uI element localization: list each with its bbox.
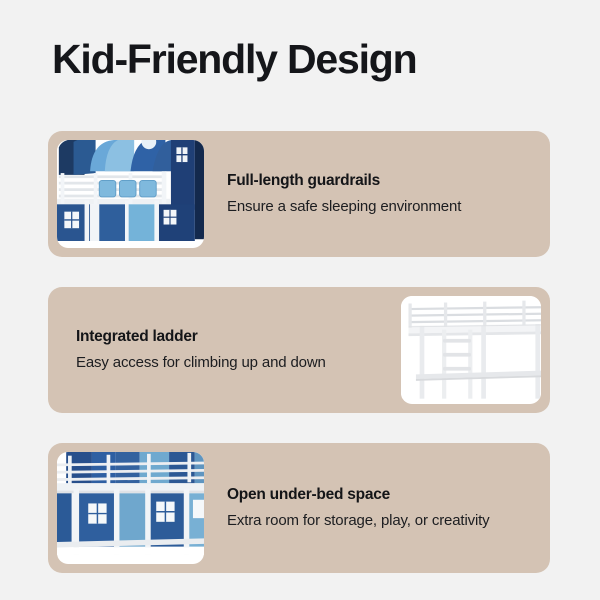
bunk-bed-canopy-illustration	[57, 140, 204, 241]
page-title: Kid-Friendly Design	[52, 37, 416, 83]
blue-bunk-bed-with-tent-canopy-photo	[57, 140, 204, 248]
feature-card-guardrails[interactable]: Full-length guardrails Ensure a safe sle…	[48, 131, 550, 257]
feature-card-under-bed-space[interactable]: Open under-bed space Extra room for stor…	[48, 443, 550, 573]
card-text-block: Open under-bed space Extra room for stor…	[213, 485, 550, 532]
kid-friendly-design-page: Kid-Friendly Design	[0, 0, 600, 600]
card-thumbnail	[48, 443, 213, 573]
card-heading: Full-length guardrails	[227, 171, 532, 191]
card-body-text: Easy access for climbing up and down	[76, 353, 346, 374]
white-metal-loft-bed-ladder-photo	[401, 296, 541, 404]
loft-bed-ladder-illustration	[401, 296, 541, 399]
card-text-block: Integrated ladder Easy access for climbi…	[48, 327, 392, 374]
card-text-block: Full-length guardrails Ensure a safe sle…	[213, 171, 550, 218]
feature-card-ladder[interactable]: Integrated ladder Easy access for climbi…	[48, 287, 550, 413]
card-thumbnail	[392, 287, 550, 413]
feature-card-list: Full-length guardrails Ensure a safe sle…	[48, 131, 550, 573]
under-bed-space-illustration	[57, 452, 204, 555]
card-thumbnail	[48, 131, 213, 257]
card-body-text: Ensure a safe sleeping environment	[227, 197, 527, 218]
card-heading: Open under-bed space	[227, 485, 532, 505]
blue-loft-bed-under-bed-space-photo	[57, 452, 204, 564]
card-body-text: Extra room for storage, play, or creativ…	[227, 511, 527, 532]
card-heading: Integrated ladder	[76, 327, 378, 347]
